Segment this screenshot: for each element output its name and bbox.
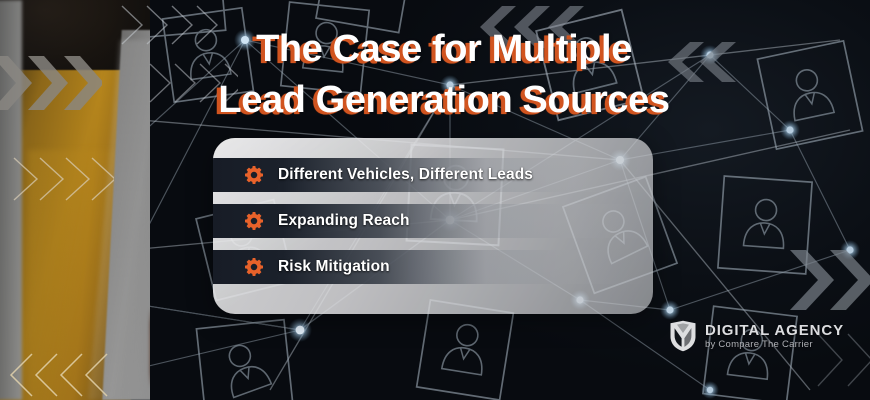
logo-text-block: DIGITAL AGENCY by Compare The Carrier xyxy=(705,323,844,350)
list-item-label: Risk Mitigation xyxy=(278,258,390,276)
chevron-right-solid-group-bottom-right xyxy=(790,248,870,312)
brand-logo[interactable]: DIGITAL AGENCY by Compare The Carrier xyxy=(668,320,844,352)
chevron-right-outline-group xyxy=(12,155,114,203)
key-points-list: Different Vehicles, Different Leads Expa… xyxy=(213,138,653,314)
logo-tagline: by Compare The Carrier xyxy=(705,340,844,350)
gear-icon xyxy=(244,211,264,231)
gear-icon xyxy=(244,165,264,185)
title-line-2: Lead Generation Sources xyxy=(18,75,870,126)
title-line-1: The Case for Multiple xyxy=(18,24,870,75)
gear-icon xyxy=(244,257,264,277)
chevron-left-outline-group xyxy=(8,352,108,398)
list-item[interactable]: Expanding Reach xyxy=(213,204,653,238)
key-points-panel: Different Vehicles, Different Leads Expa… xyxy=(213,138,653,314)
list-item[interactable]: Risk Mitigation xyxy=(213,250,653,284)
list-item-label: Different Vehicles, Different Leads xyxy=(278,166,533,184)
shield-swoosh-logo-icon xyxy=(668,320,698,352)
logo-name: DIGITAL AGENCY xyxy=(705,323,844,338)
list-item-label: Expanding Reach xyxy=(278,212,410,230)
banner-title: The Case for Multiple Lead Generation So… xyxy=(0,24,870,125)
promo-banner: The Case for Multiple Lead Generation So… xyxy=(0,0,870,400)
list-item[interactable]: Different Vehicles, Different Leads xyxy=(213,158,653,192)
